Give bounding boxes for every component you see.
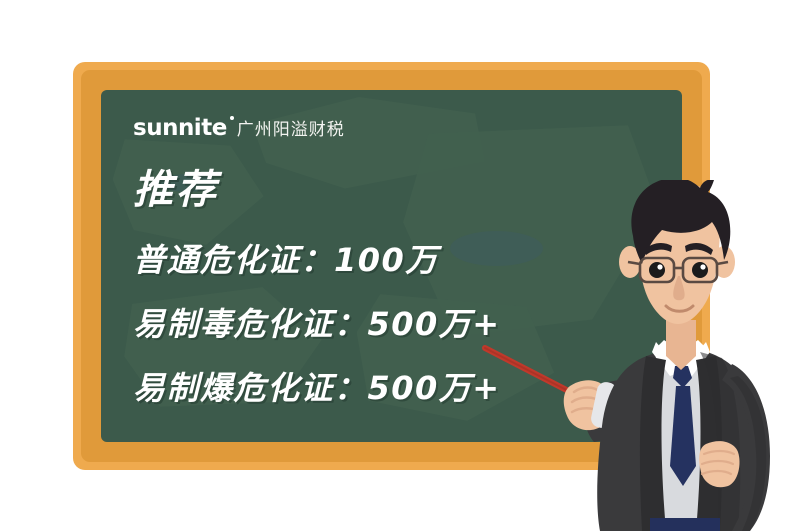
head bbox=[619, 180, 735, 324]
company-name: 广州阳溢财税 bbox=[237, 122, 345, 140]
poster-canvas: sunnite 广州阳溢财税 推荐 普通危化证：100万 易制毒危化证：500万… bbox=[0, 0, 800, 531]
sunnite-logo-text: sunnite bbox=[133, 115, 227, 141]
eye-right bbox=[692, 262, 708, 278]
teacher-illustration bbox=[470, 180, 800, 531]
brand-lockup: sunnite 广州阳溢财税 bbox=[133, 116, 682, 140]
trousers bbox=[650, 518, 720, 531]
sunnite-logo: sunnite bbox=[133, 117, 227, 140]
logo-dot-icon bbox=[230, 116, 234, 120]
eye-left bbox=[649, 262, 665, 278]
